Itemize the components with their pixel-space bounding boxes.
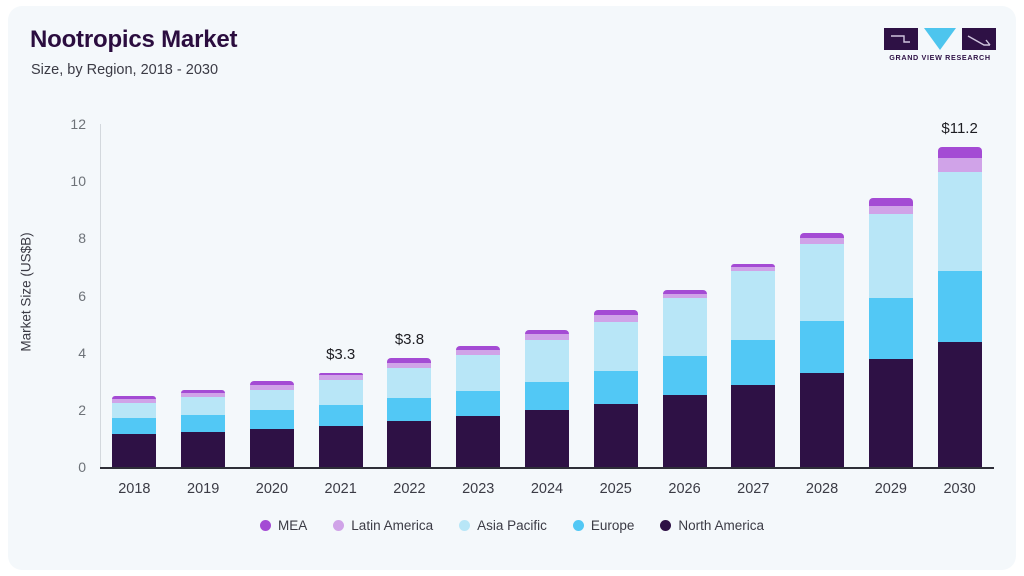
bar-segment[interactable] [731, 385, 775, 467]
stacked-bar[interactable] [731, 115, 775, 467]
bar-segment[interactable] [181, 432, 225, 467]
legend-swatch-icon [260, 520, 271, 531]
legend-swatch-icon [333, 520, 344, 531]
bar-group[interactable]: 2018 [100, 115, 169, 467]
stacked-bar[interactable] [663, 115, 707, 467]
grand-view-research-logo: GRAND VIEW RESEARCH [884, 28, 996, 64]
bar-group[interactable]: 2024 [513, 115, 582, 467]
bar-segment[interactable] [319, 405, 363, 426]
bar-segment[interactable] [594, 310, 638, 315]
bar-segment[interactable] [525, 340, 569, 381]
bar-segment[interactable] [938, 147, 982, 158]
stacked-bar[interactable] [319, 115, 363, 467]
bar-value-label: $3.3 [326, 346, 355, 363]
bar-group[interactable]: $3.82022 [375, 115, 444, 467]
y-axis-tick: 8 [78, 230, 86, 246]
logo-marks [884, 28, 996, 50]
stacked-bar[interactable] [525, 115, 569, 467]
legend-label: North America [678, 518, 764, 533]
legend-item[interactable]: Asia Pacific [459, 518, 547, 533]
chart-plot-area: Market Size (US$B) 024681012 20182019202… [100, 116, 994, 468]
bar-segment[interactable] [938, 158, 982, 172]
bar-segment[interactable] [731, 267, 775, 271]
bar-segment[interactable] [869, 298, 913, 359]
bar-segment[interactable] [800, 321, 844, 372]
bar-segment[interactable] [181, 390, 225, 393]
bar-segment[interactable] [663, 298, 707, 357]
bar-segment[interactable] [112, 396, 156, 399]
bar-segment[interactable] [525, 330, 569, 335]
bar-series-container: 201820192020$3.32021$3.82022202320242025… [100, 116, 994, 468]
x-axis-tick: 2028 [806, 481, 838, 497]
bar-group[interactable]: 2029 [856, 115, 925, 467]
chart-card: Nootropics Market Size, by Region, 2018 … [8, 6, 1016, 570]
bar-segment[interactable] [663, 290, 707, 294]
stacked-bar[interactable] [938, 115, 982, 467]
bar-segment[interactable] [319, 426, 363, 467]
bar-segment[interactable] [938, 271, 982, 342]
bar-segment[interactable] [456, 416, 500, 467]
bar-segment[interactable] [456, 346, 500, 350]
legend-label: Asia Pacific [477, 518, 547, 533]
bar-segment[interactable] [663, 356, 707, 395]
bar-segment[interactable] [800, 233, 844, 239]
x-axis-tick: 2022 [393, 481, 425, 497]
bar-segment[interactable] [250, 410, 294, 429]
bar-segment[interactable] [869, 214, 913, 298]
x-axis-tick: 2024 [531, 481, 563, 497]
logo-triangle-icon [924, 28, 956, 50]
bar-group[interactable]: $3.32021 [306, 115, 375, 467]
legend-swatch-icon [660, 520, 671, 531]
y-axis-tick: 2 [78, 402, 86, 418]
y-axis-tick: 4 [78, 345, 86, 361]
bar-group[interactable]: 2026 [650, 115, 719, 467]
bar-group[interactable]: $11.22030 [925, 115, 994, 467]
bar-segment[interactable] [387, 421, 431, 467]
bar-segment[interactable] [250, 390, 294, 411]
bar-segment[interactable] [731, 340, 775, 384]
stacked-bar[interactable] [250, 115, 294, 467]
x-axis-tick: 2026 [668, 481, 700, 497]
bar-segment[interactable] [456, 355, 500, 391]
x-axis-tick: 2019 [187, 481, 219, 497]
bar-segment[interactable] [731, 271, 775, 340]
bar-segment[interactable] [731, 264, 775, 267]
legend-label: Europe [591, 518, 635, 533]
bar-segment[interactable] [387, 358, 431, 362]
bar-segment[interactable] [869, 359, 913, 467]
legend-item[interactable]: MEA [260, 518, 307, 533]
bar-segment[interactable] [250, 381, 294, 384]
bar-segment[interactable] [319, 375, 363, 380]
bar-segment[interactable] [181, 393, 225, 397]
bar-segment[interactable] [250, 385, 294, 390]
bar-segment[interactable] [800, 244, 844, 321]
bar-segment[interactable] [250, 429, 294, 467]
bar-group[interactable]: 2028 [788, 115, 857, 467]
x-axis-tick: 2020 [256, 481, 288, 497]
bar-segment[interactable] [112, 434, 156, 467]
bar-segment[interactable] [112, 403, 156, 419]
stacked-bar[interactable] [800, 115, 844, 467]
y-axis-tick: 0 [78, 459, 86, 475]
x-axis-tick: 2027 [737, 481, 769, 497]
legend-label: MEA [278, 518, 307, 533]
bar-segment[interactable] [869, 198, 913, 206]
bar-segment[interactable] [456, 350, 500, 356]
stacked-bar[interactable] [112, 115, 156, 467]
bar-segment[interactable] [938, 342, 982, 467]
legend-swatch-icon [459, 520, 470, 531]
y-axis-tick: 10 [70, 173, 86, 189]
bar-segment[interactable] [387, 363, 431, 369]
legend-item[interactable]: Latin America [333, 518, 433, 533]
y-axis-tick: 12 [70, 116, 86, 132]
bar-segment[interactable] [938, 172, 982, 271]
bar-group[interactable]: 2025 [581, 115, 650, 467]
bar-segment[interactable] [663, 294, 707, 298]
x-axis-tick: 2025 [600, 481, 632, 497]
bar-segment[interactable] [663, 395, 707, 467]
bar-group[interactable]: 2027 [719, 115, 788, 467]
x-axis-tick: 2030 [943, 481, 975, 497]
bar-segment[interactable] [869, 206, 913, 214]
bar-segment[interactable] [387, 398, 431, 421]
bar-segment[interactable] [525, 410, 569, 467]
bar-segment[interactable] [594, 404, 638, 467]
bar-segment[interactable] [800, 238, 844, 244]
stacked-bar[interactable] [181, 115, 225, 467]
legend-item[interactable]: North America [660, 518, 764, 533]
x-axis-tick: 2021 [325, 481, 357, 497]
logo-left-rect-icon [884, 28, 918, 50]
bar-segment[interactable] [594, 315, 638, 322]
legend-swatch-icon [573, 520, 584, 531]
bar-segment[interactable] [319, 380, 363, 405]
logo-text: GRAND VIEW RESEARCH [884, 53, 996, 62]
bar-segment[interactable] [456, 391, 500, 416]
x-axis-line [100, 467, 994, 469]
bar-segment[interactable] [525, 334, 569, 340]
bar-group[interactable]: 2023 [444, 115, 513, 467]
stacked-bar[interactable] [594, 115, 638, 467]
bar-segment[interactable] [181, 415, 225, 432]
page-title: Nootropics Market [30, 26, 237, 54]
x-axis-tick: 2023 [462, 481, 494, 497]
legend-label: Latin America [351, 518, 433, 533]
chart-subtitle: Size, by Region, 2018 - 2030 [31, 62, 218, 78]
bar-segment[interactable] [112, 418, 156, 434]
y-axis-tick: 6 [78, 288, 86, 304]
bar-segment[interactable] [387, 368, 431, 398]
x-axis-tick: 2018 [118, 481, 150, 497]
bar-segment[interactable] [181, 397, 225, 415]
x-axis-tick: 2029 [875, 481, 907, 497]
y-axis-label: Market Size (US$B) [19, 232, 34, 351]
stacked-bar[interactable] [456, 115, 500, 467]
bar-segment[interactable] [319, 373, 363, 376]
bar-segment[interactable] [594, 371, 638, 404]
bar-value-label: $11.2 [941, 120, 977, 137]
logo-right-rect-icon [962, 28, 996, 50]
bar-group[interactable]: 2019 [169, 115, 238, 467]
chart-legend: MEALatin AmericaAsia PacificEuropeNorth … [8, 518, 1016, 533]
stacked-bar[interactable] [869, 115, 913, 467]
stacked-bar[interactable] [387, 115, 431, 467]
bar-value-label: $3.8 [395, 331, 424, 348]
bar-segment[interactable] [112, 399, 156, 403]
bar-segment[interactable] [525, 382, 569, 411]
legend-item[interactable]: Europe [573, 518, 635, 533]
bar-group[interactable]: 2020 [238, 115, 307, 467]
bar-segment[interactable] [800, 373, 844, 467]
chart-header: Nootropics Market Size, by Region, 2018 … [8, 6, 1016, 102]
bar-segment[interactable] [594, 322, 638, 371]
